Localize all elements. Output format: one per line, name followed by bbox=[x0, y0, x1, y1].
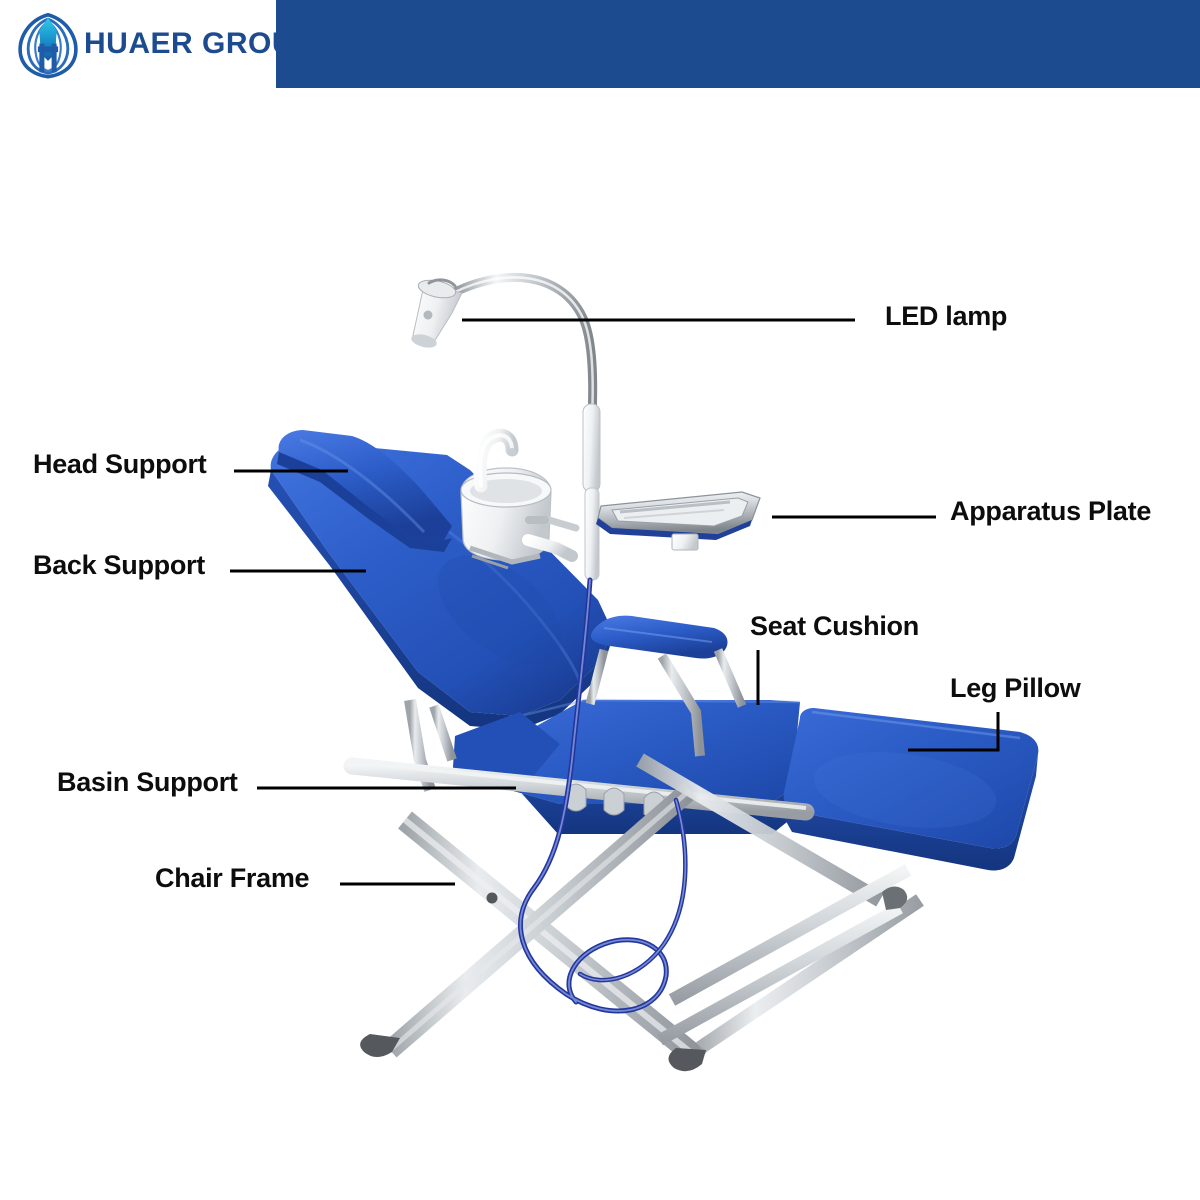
callout-label-back-support: Back Support bbox=[33, 550, 205, 581]
callout-label-basin-support: Basin Support bbox=[57, 767, 238, 798]
basin-support-part bbox=[461, 435, 576, 568]
leg-pillow-part bbox=[782, 708, 1038, 871]
callout-label-head-support: Head Support bbox=[33, 449, 206, 480]
lamp-head-icon bbox=[410, 277, 462, 350]
diagram-canvas: HUAER GROUP LED lampApparatus PlateSeat … bbox=[0, 0, 1200, 1200]
callout-label-leg-pillow: Leg Pillow bbox=[950, 673, 1081, 704]
header-banner bbox=[276, 0, 1200, 88]
callout-label-led-lamp: LED lamp bbox=[885, 301, 1007, 332]
callout-label-chair-frame: Chair Frame bbox=[155, 863, 309, 894]
product-illustration bbox=[0, 0, 1200, 1200]
callout-label-seat-cushion: Seat Cushion bbox=[750, 611, 919, 642]
apparatus-plate-part bbox=[596, 492, 760, 550]
back-support-part bbox=[268, 441, 612, 730]
huaer-emblem-icon bbox=[12, 9, 84, 81]
logo-zone: HUAER GROUP bbox=[0, 0, 276, 88]
brand-name: HUAER GROUP bbox=[84, 27, 315, 61]
callout-label-apparatus-plate: Apparatus Plate bbox=[950, 496, 1151, 527]
